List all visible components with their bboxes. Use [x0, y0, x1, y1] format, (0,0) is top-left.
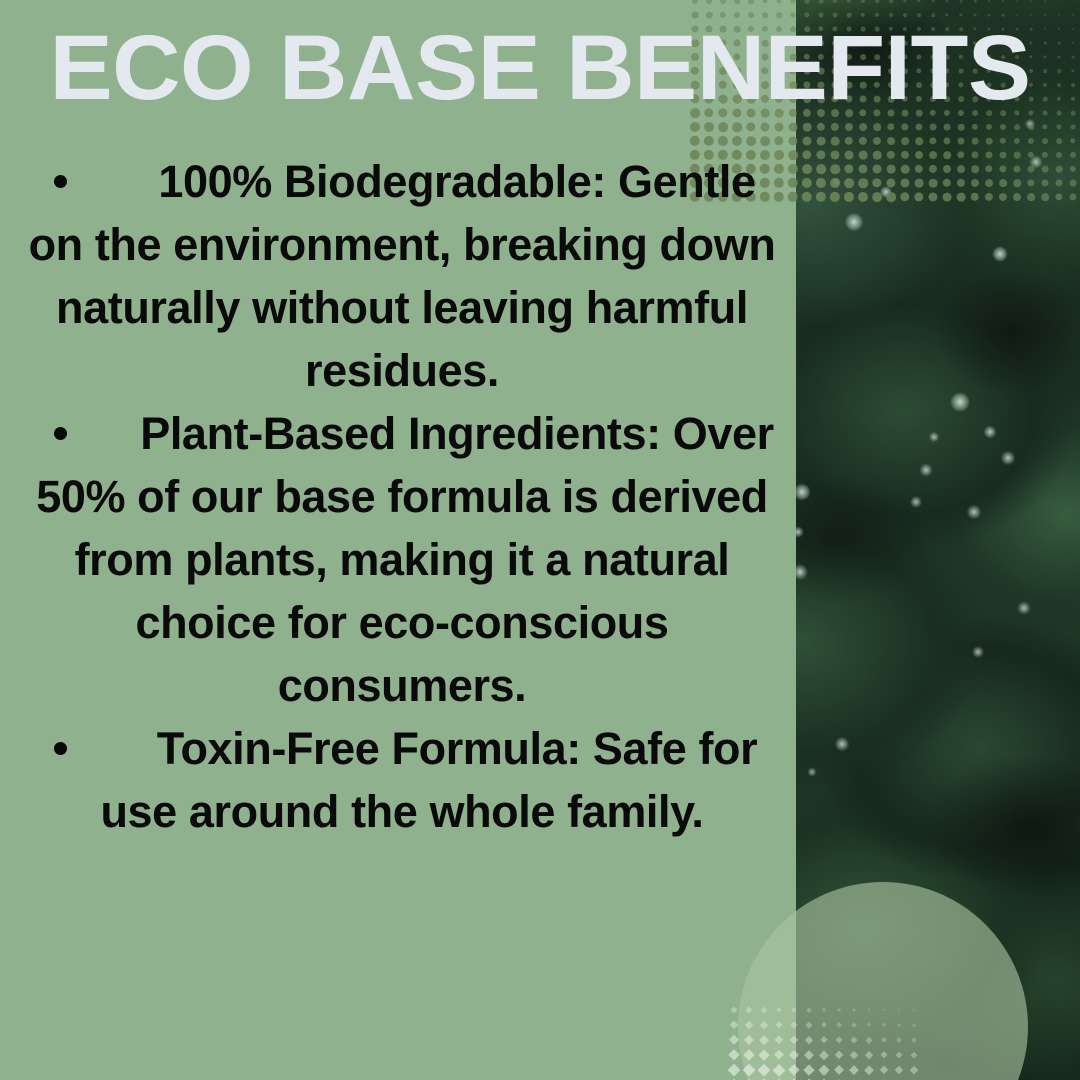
- bullet-dot-icon: [54, 175, 67, 188]
- list-item: Toxin-Free Formula: Safe for use around …: [28, 717, 776, 843]
- bullet-dot-icon: [54, 427, 67, 440]
- list-item: Plant-Based Ingredients: Over 50% of our…: [28, 402, 776, 717]
- leaf-photo-panel: [796, 0, 1080, 1080]
- list-item-text: 100% Biodegradable: Gentle on the enviro…: [29, 156, 776, 396]
- bullet-dot-icon: [54, 742, 67, 755]
- photo-grain-layer: [796, 0, 1080, 1080]
- page-title: ECO BASE BENEFITS: [0, 22, 1080, 114]
- list-item-text: Toxin-Free Formula: Safe for use around …: [100, 723, 757, 837]
- benefits-list: 100% Biodegradable: Gentle on the enviro…: [28, 150, 776, 843]
- eco-base-benefits-poster: ECO BASE BENEFITS 100% Biodegradable: Ge…: [0, 0, 1080, 1080]
- list-item: 100% Biodegradable: Gentle on the enviro…: [28, 150, 776, 402]
- list-item-text: Plant-Based Ingredients: Over 50% of our…: [36, 408, 774, 711]
